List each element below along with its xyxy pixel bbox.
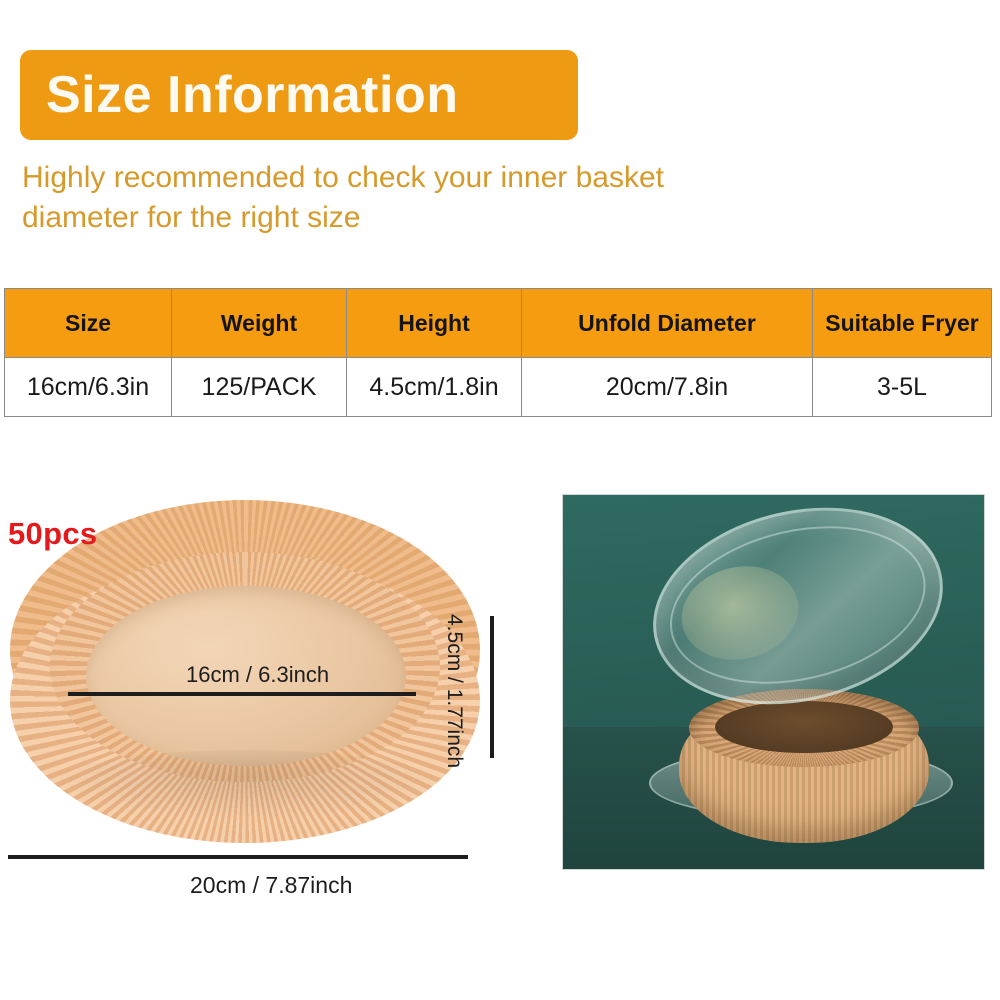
dimension-label-unfold: 20cm / 7.87inch — [190, 872, 352, 899]
dimension-line-width — [68, 692, 416, 696]
dimension-line-unfold — [8, 855, 468, 859]
table-row: 16cm/6.3in 125/PACK 4.5cm/1.8in 20cm/7.8… — [5, 358, 992, 417]
column-header-unfold-diameter: Unfold Diameter — [522, 289, 813, 358]
column-header-size: Size — [5, 289, 172, 358]
product-photo-with-lid — [562, 494, 985, 870]
page-title: Size Information — [20, 69, 458, 121]
quantity-badge: 50pcs — [8, 516, 97, 552]
subtitle-text: Highly recommended to check your inner b… — [22, 158, 682, 237]
dimension-label-width: 16cm / 6.3inch — [186, 662, 329, 688]
cell-height: 4.5cm/1.8in — [347, 358, 522, 417]
cell-unfold-diameter: 20cm/7.8in — [522, 358, 813, 417]
column-header-height: Height — [347, 289, 522, 358]
cell-suitable-fryer: 3-5L — [813, 358, 992, 417]
column-header-suitable-fryer: Suitable Fryer — [813, 289, 992, 358]
size-information-badge: Size Information — [20, 50, 578, 140]
specification-table: Size Weight Height Unfold Diameter Suita… — [4, 288, 992, 417]
column-header-weight: Weight — [172, 289, 347, 358]
cell-size: 16cm/6.3in — [5, 358, 172, 417]
dimension-label-height: 4.5cm / 1.77inch — [442, 614, 466, 764]
dimension-line-height — [490, 616, 494, 758]
paper-liner-interior — [715, 701, 893, 753]
liner-shadow — [50, 750, 440, 820]
cell-weight: 125/PACK — [172, 358, 347, 417]
table-header-row: Size Weight Height Unfold Diameter Suita… — [5, 289, 992, 358]
